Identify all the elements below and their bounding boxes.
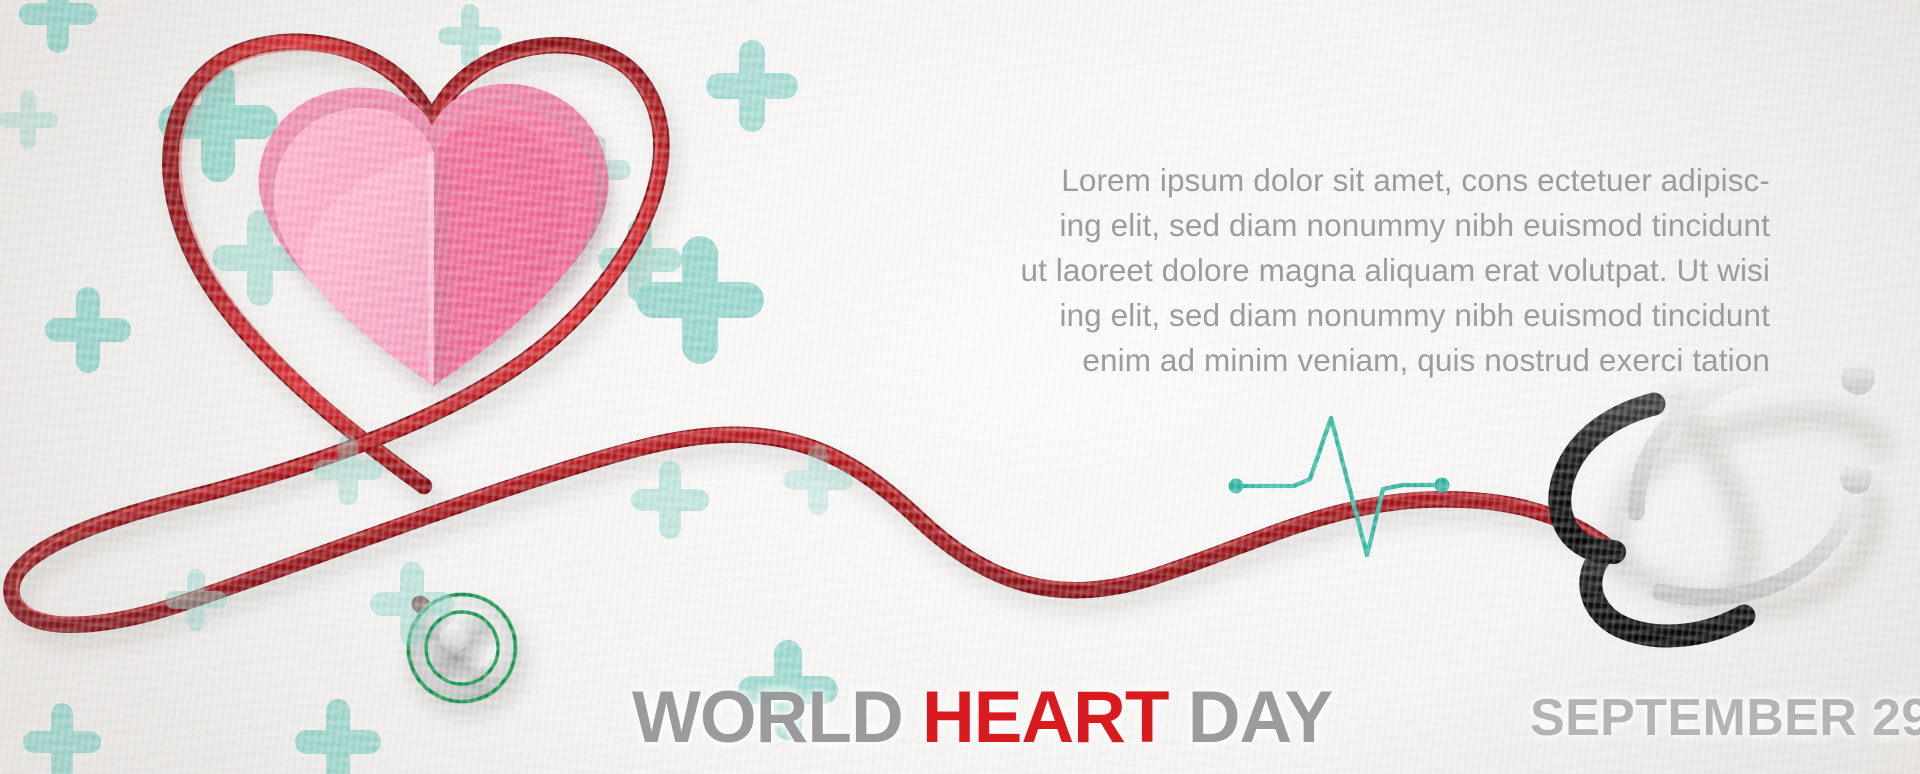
title-word-world: WORLD: [632, 677, 903, 758]
page-title: WORLD HEART DAY: [632, 672, 1332, 764]
medical-cross-icon: [783, 445, 853, 515]
medical-cross-icon: [631, 461, 709, 539]
medical-cross-icon: [370, 562, 454, 646]
title-word-heart: HEART: [922, 677, 1168, 758]
medical-cross-icon: [313, 435, 383, 505]
cross-pattern-front-layer: [0, 0, 1920, 774]
medical-cross-icon: [165, 569, 227, 631]
title-bar: WORLD HEART DAY SEPTEMBER 29: [0, 672, 1920, 764]
event-date: SEPTEMBER 29: [1530, 680, 1920, 756]
title-word-day: DAY: [1188, 677, 1332, 758]
body-paragraph: Lorem ipsum dolor sit amet, cons ectetue…: [838, 158, 1770, 383]
world-heart-day-banner: Lorem ipsum dolor sit amet, cons ectetue…: [0, 0, 1920, 774]
